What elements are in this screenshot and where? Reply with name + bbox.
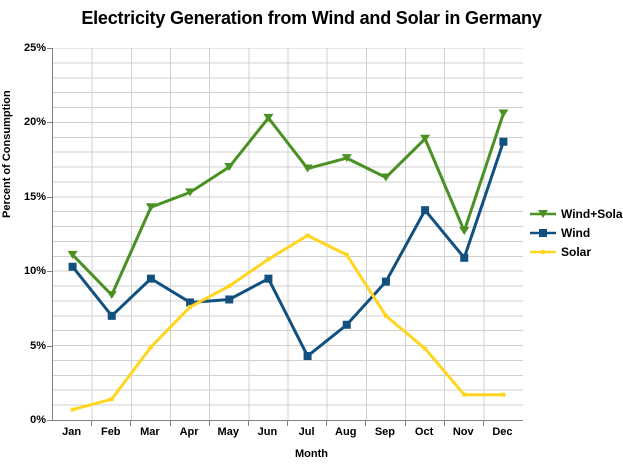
- data-point-marker: [498, 109, 508, 117]
- y-axis-tick-mark: [47, 346, 52, 347]
- legend-label: Solar: [561, 245, 591, 259]
- legend-item-wind[interactable]: Wind: [528, 224, 623, 241]
- x-axis-tick-mark: [91, 421, 92, 426]
- x-axis-tick-mark: [444, 421, 445, 426]
- data-point-marker: [149, 345, 153, 349]
- data-point-marker: [345, 253, 349, 257]
- data-point-marker: [384, 314, 388, 318]
- data-point-marker: [381, 173, 391, 181]
- x-axis-tick-mark: [365, 421, 366, 426]
- x-axis-tick-mark: [483, 421, 484, 426]
- data-point-marker: [188, 305, 192, 309]
- legend-swatch-square-icon: [528, 226, 558, 240]
- data-point-marker: [421, 206, 429, 214]
- data-point-marker: [306, 233, 310, 237]
- y-axis-tick-label: 10%: [6, 265, 46, 277]
- data-point-marker: [110, 397, 114, 401]
- x-axis-tick-mark: [209, 421, 210, 426]
- legend-label: Wind+Solar: [561, 207, 623, 221]
- data-point-marker: [107, 291, 117, 299]
- data-point-marker: [459, 227, 469, 235]
- legend-item-wind-solar[interactable]: Wind+Solar: [528, 205, 623, 222]
- series-line-solar: [73, 235, 504, 409]
- y-axis-tick-label: 25%: [6, 42, 46, 54]
- data-point-marker: [343, 321, 351, 329]
- y-axis-tick-mark: [47, 48, 52, 49]
- data-point-marker: [108, 312, 116, 320]
- y-axis-tick-label: 5%: [6, 340, 46, 352]
- chart-title: Electricity Generation from Wind and Sol…: [0, 8, 623, 29]
- y-axis-tick-mark: [47, 271, 52, 272]
- data-point-marker: [147, 275, 155, 283]
- data-point-marker: [304, 352, 312, 360]
- chart-series-layer: [53, 48, 523, 420]
- y-axis-tick-label: 15%: [6, 191, 46, 203]
- y-axis-tick-mark: [47, 420, 52, 421]
- data-point-marker: [501, 393, 505, 397]
- data-point-marker: [227, 284, 231, 288]
- data-point-marker: [264, 275, 272, 283]
- data-point-marker: [382, 278, 390, 286]
- data-point-marker: [71, 408, 75, 412]
- y-axis-tick-mark: [47, 122, 52, 123]
- data-point-marker: [266, 257, 270, 261]
- data-point-marker: [225, 295, 233, 303]
- x-axis-tick-mark: [130, 421, 131, 426]
- x-axis-tick-mark: [170, 421, 171, 426]
- series-line-wind-solar: [73, 113, 504, 295]
- x-axis-tick-mark: [248, 421, 249, 426]
- y-axis-tick-mark: [47, 197, 52, 198]
- chart-legend: Wind+SolarWindSolar: [528, 205, 623, 260]
- data-point-marker: [460, 254, 468, 262]
- data-point-marker: [462, 393, 466, 397]
- x-axis-tick-mark: [405, 421, 406, 426]
- y-axis-tick-label: 20%: [6, 116, 46, 128]
- data-point-marker: [423, 347, 427, 351]
- x-axis-tick-mark: [326, 421, 327, 426]
- legend-swatch-small-square-icon: [528, 245, 558, 259]
- data-point-marker: [69, 263, 77, 271]
- x-axis-title: Month: [0, 448, 623, 460]
- chart-container: Electricity Generation from Wind and Sol…: [0, 0, 623, 467]
- plot-area: Percent of Consumption: [52, 48, 523, 421]
- legend-swatch-triangle-down-icon: [528, 207, 558, 221]
- data-point-marker: [499, 138, 507, 146]
- legend-label: Wind: [561, 226, 590, 240]
- y-axis-tick-label: 0%: [6, 414, 46, 426]
- x-axis-tick-label: Dec: [477, 426, 527, 438]
- legend-item-solar[interactable]: Solar: [528, 243, 623, 260]
- x-axis-tick-mark: [287, 421, 288, 426]
